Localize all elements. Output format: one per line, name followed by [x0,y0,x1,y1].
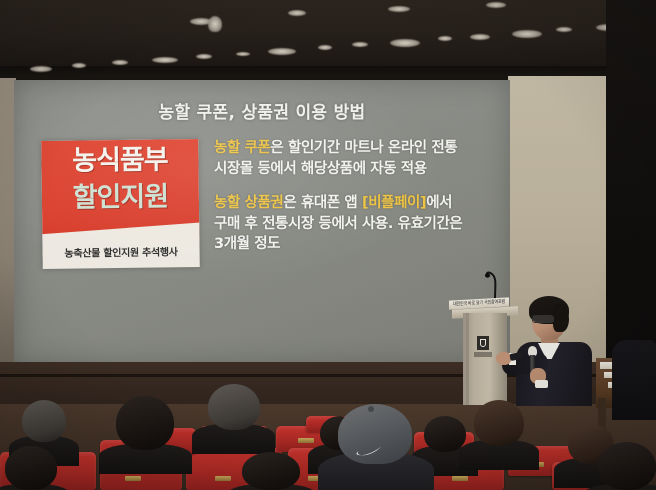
ceiling-light-17 [388,6,410,12]
ceiling-light-0 [30,66,52,72]
ceiling-light-11 [470,34,490,40]
seat-hardware-plate [125,476,141,481]
ceiling-light-3 [152,57,178,63]
presentation-photo-scene: 농할 쿠폰, 상품권 이용 방법 농식품부 할인지원 농축산물 할인지원 추석행… [0,0,656,490]
seat-hardware-plate [215,476,231,481]
glasses-icon [532,315,554,323]
podium-emblem-caption [474,352,492,357]
presenter-hair-side [553,304,569,332]
nike-swoosh-icon [356,442,382,453]
podium-emblem-icon [477,336,489,350]
ceiling-light-1 [72,63,86,68]
ceiling-light-6 [268,48,296,55]
poster-headline-line2: 할인지원 [42,183,199,212]
slide-text-line: 구매 후 전통시장 등에서 사용. 유효기간은 [214,214,500,235]
body-text-run: 3개월 정도 [214,236,280,252]
audience-member-head [208,384,260,430]
slide-text-line: 농할 상품권은 휴대폰 앱 [비플페이]에서 [214,193,500,214]
body-text-run: 은 할인기간 마트나 온라인 전통 [270,140,457,156]
slide-text-line: 3개월 정도 [214,234,500,255]
ceiling-light-5 [236,52,250,56]
ceiling-light-7 [318,45,332,50]
audience-member-head [242,452,300,490]
presenter-left-hand [496,352,511,365]
slide-title: 농할 쿠폰, 상품권 이용 방법 [14,98,510,123]
slide-paragraph: 농할 쿠폰은 할인기간 마트나 온라인 전통시장몰 등에서 해당상품에 자동 적… [214,138,500,179]
ceiling-light-9 [390,39,420,47]
presenter-right-cuff [535,380,548,388]
body-text-run: 은 휴대폰 앱 [283,195,362,211]
cap-top-button [368,406,374,412]
audience-member-head [598,442,656,490]
poster-headline-line1: 농식품부 [41,146,198,175]
highlighted-term: 농할 상품권 [214,195,283,211]
seat-hardware-plate [298,438,314,443]
ceiling-light-2 [112,60,128,65]
seat-hardware-plate [452,476,468,481]
podium-edge-shadow [466,313,469,405]
slide-text-line: 시장몰 등에서 해당상품에 자동 적용 [214,159,500,180]
highlighted-term: 농할 쿠폰 [214,140,270,156]
highlighted-term: [비플페이] [362,195,426,211]
ceiling-light-8 [352,42,368,47]
slide-text-line: 농할 쿠폰은 할인기간 마트나 온라인 전통 [214,138,500,159]
audience-member-head [474,400,524,446]
slide-body-text: 농할 쿠폰은 할인기간 마트나 온라인 전통시장몰 등에서 해당상품에 자동 적… [214,138,500,269]
body-text-run: 시장몰 등에서 해당상품에 자동 적용 [214,161,427,177]
ceiling-light-13 [556,27,572,32]
projection-screen: 농할 쿠폰, 상품권 이용 방법 농식품부 할인지원 농축산물 할인지원 추석행… [14,80,510,365]
ceiling-light-12 [512,30,542,38]
body-text-run: 구매 후 전통시장 등에서 사용. 유효기간은 [214,216,462,232]
ceiling-light-16 [288,10,306,16]
gooseneck-microphone-icon [484,266,500,300]
ceiling-dome-fixture [208,16,222,32]
ceiling-light-4 [196,54,212,59]
body-text-run: 에서 [426,195,452,211]
slide-paragraph: 농할 상품권은 휴대폰 앱 [비플페이]에서구매 후 전통시장 등에서 사용. … [214,193,500,255]
audience-member-head [22,400,66,442]
slide-poster-image: 농식품부 할인지원 농축산물 할인지원 추석행사 [41,139,200,269]
audience-member-head [424,416,466,452]
audience-member-head [116,396,174,450]
ceiling-light-18 [486,2,506,8]
audience-member-head [5,446,57,490]
standing-attendee-right [612,340,656,420]
poster-subtitle: 농축산물 할인지원 추석행사 [42,243,199,260]
ceiling-light-10 [438,36,452,41]
